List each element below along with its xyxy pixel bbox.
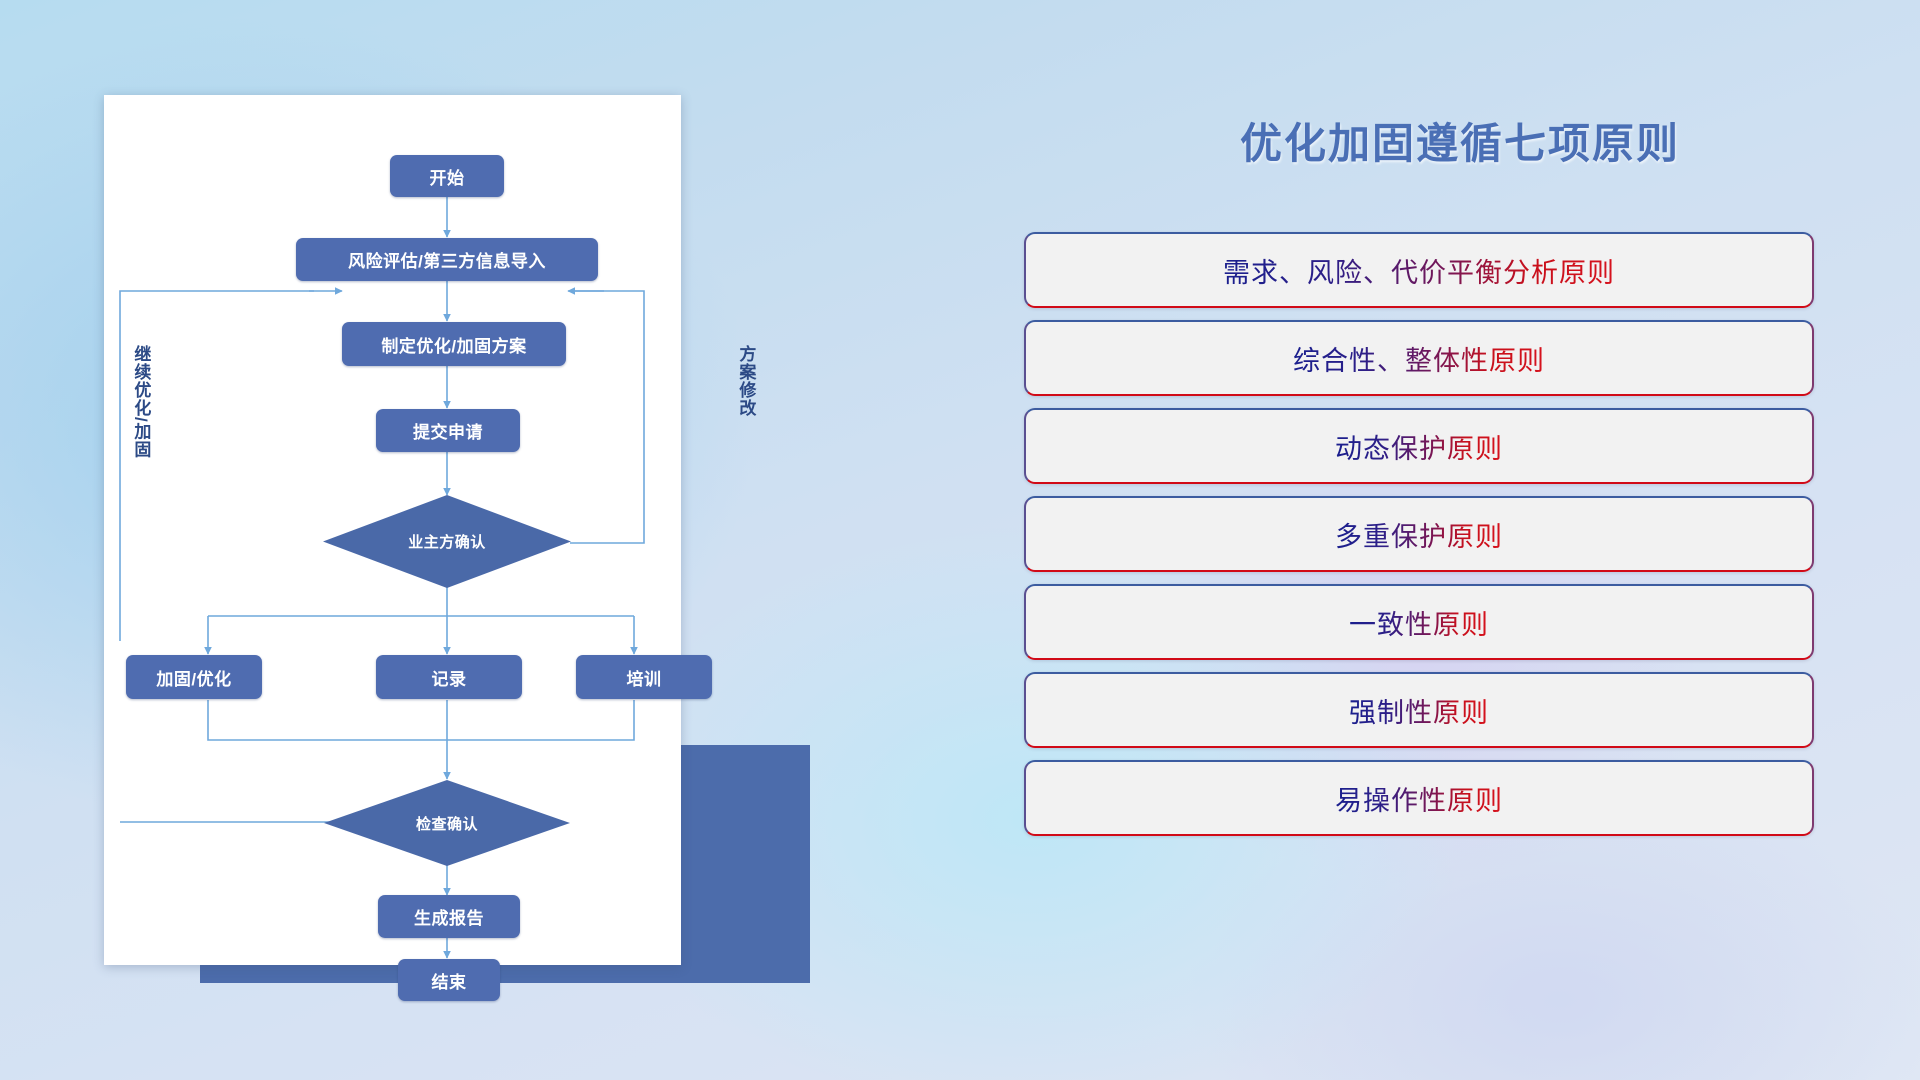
principle-card[interactable]: 强制性原则 [1024,672,1814,748]
flow-node-report[interactable]: 生成报告 [378,895,520,938]
principle-card[interactable]: 动态保护原则 [1024,408,1814,484]
flow-node-owner-confirm[interactable]: 业主方确认 [323,495,571,588]
principles-panel: 优化加固遵循七项原则 需求、风险、代价平衡分析原则 综合性、整体性原则 动态保护… [1010,0,1920,1080]
flow-node-record-label: 记录 [432,665,467,690]
principle-card[interactable]: 易操作性原则 [1024,760,1814,836]
principle-card[interactable]: 需求、风险、代价平衡分析原则 [1024,232,1814,308]
principle-card-label: 需求、风险、代价平衡分析原则 [1223,251,1615,290]
edge-label-plan-revise: 方案修改 [737,345,754,455]
flow-node-check-confirm[interactable]: 检查确认 [324,780,570,866]
flow-node-submit[interactable]: 提交申请 [376,409,520,452]
flow-node-train-label: 培训 [627,665,662,690]
panel-title: 优化加固遵循七项原则 [1010,110,1910,171]
flow-node-report-label: 生成报告 [414,904,484,929]
principle-card-label: 强制性原则 [1349,691,1489,730]
flow-node-risk-assessment-label: 风险评估/第三方信息导入 [348,247,546,272]
flow-node-submit-label: 提交申请 [413,418,483,443]
flow-node-start-label: 开始 [430,164,465,189]
principle-card[interactable]: 多重保护原则 [1024,496,1814,572]
flow-node-risk-assessment[interactable]: 风险评估/第三方信息导入 [296,238,598,281]
principle-card-label: 多重保护原则 [1335,515,1503,554]
principles-card-list: 需求、风险、代价平衡分析原则 综合性、整体性原则 动态保护原则 多重保护原则 一… [1024,232,1814,848]
flow-node-check-confirm-label: 检查确认 [416,813,478,834]
principle-card-label: 综合性、整体性原则 [1293,339,1545,378]
flowchart-stage: 开始 风险评估/第三方信息导入 制定优化/加固方案 提交申请 业主方确认 加固/… [0,0,860,1080]
flow-node-reinforce[interactable]: 加固/优化 [126,655,262,699]
flow-node-start[interactable]: 开始 [390,155,504,197]
principle-card-label: 易操作性原则 [1335,779,1503,818]
edge-label-continue-optimize: 继续优化/加固 [132,345,149,525]
flow-node-owner-confirm-label: 业主方确认 [408,531,486,552]
flow-node-train[interactable]: 培训 [576,655,712,699]
principle-card[interactable]: 一致性原则 [1024,584,1814,660]
principle-card-label: 动态保护原则 [1335,427,1503,466]
flow-node-record[interactable]: 记录 [376,655,522,699]
flow-node-end-label: 结束 [432,968,467,993]
flow-node-end[interactable]: 结束 [398,959,500,1001]
flowchart-card: 开始 风险评估/第三方信息导入 制定优化/加固方案 提交申请 业主方确认 加固/… [104,95,681,965]
principle-card[interactable]: 综合性、整体性原则 [1024,320,1814,396]
flow-node-plan[interactable]: 制定优化/加固方案 [342,322,566,366]
flow-node-plan-label: 制定优化/加固方案 [381,332,526,357]
principle-card-label: 一致性原则 [1349,603,1489,642]
flow-node-reinforce-label: 加固/优化 [156,665,231,690]
